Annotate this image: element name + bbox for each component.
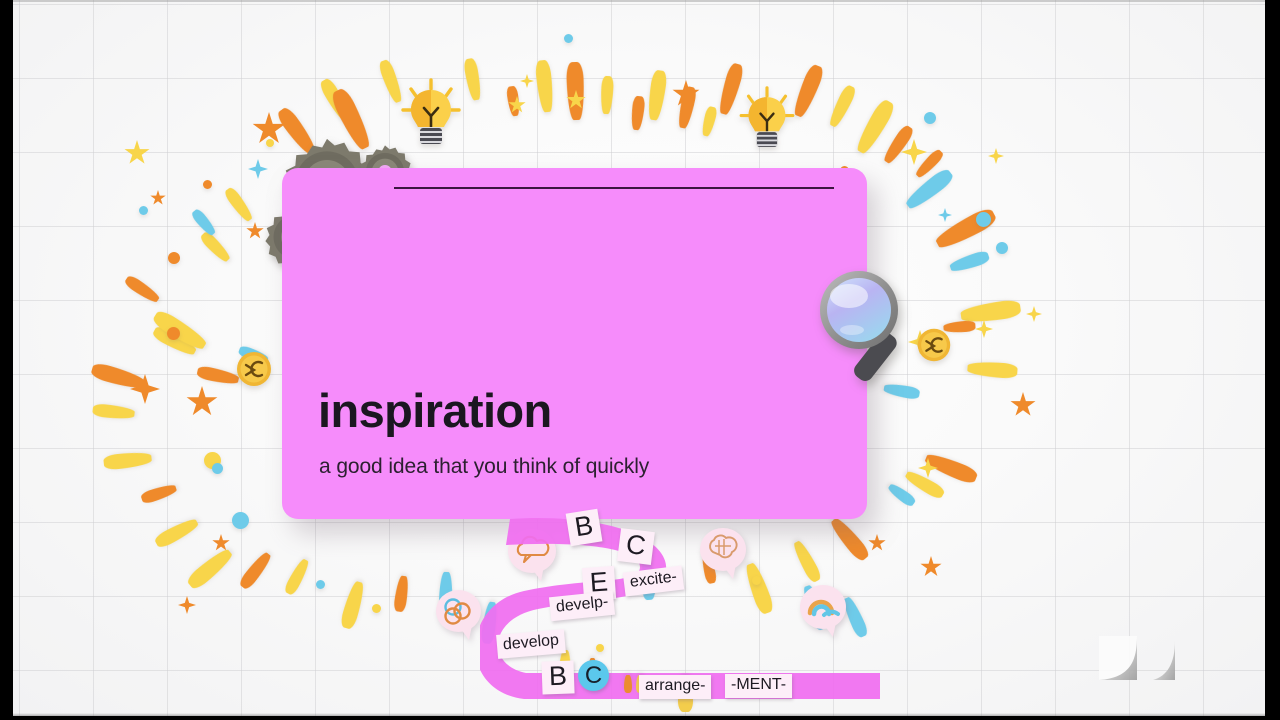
confetti-dot — [212, 463, 223, 474]
card-top-rule — [394, 187, 834, 189]
word-chain: B C E excite- develp- develop B C arrang… — [480, 505, 880, 720]
confetti-dot — [924, 112, 936, 124]
video-frame: inspiration a good idea that you think o… — [0, 0, 1280, 720]
confetti-dot — [168, 252, 180, 264]
lightbulb-mini-left-icon — [232, 347, 276, 391]
frame-top-edge — [13, 0, 1265, 2]
lightbulb-right-icon — [738, 86, 796, 158]
speech-bubble-links — [436, 590, 481, 632]
chain-tile-ment: -MENT- — [725, 674, 792, 698]
card-definition: a good idea that you think of quickly — [319, 456, 649, 477]
chain-drip-orange-2 — [624, 675, 632, 693]
confetti-dot — [266, 139, 274, 147]
confetti-dot — [232, 512, 249, 529]
chain-tile-letter-b-top: B — [566, 509, 603, 546]
confetti-dot — [564, 34, 573, 43]
confetti-dot — [167, 327, 180, 340]
confetti-dot — [203, 180, 212, 189]
confetti-dot — [139, 206, 148, 215]
confetti-dot — [976, 212, 991, 227]
lightbulb-left-icon — [400, 78, 462, 156]
links-icon — [436, 590, 481, 632]
letterbox-left — [0, 0, 13, 720]
letterbox-right — [1265, 0, 1280, 720]
chain-tile-letter-c-circle: C — [578, 660, 609, 691]
vocabulary-card[interactable]: inspiration a good idea that you think o… — [282, 168, 867, 519]
chain-tile-arrange: arrange- — [639, 675, 711, 699]
confetti-dot — [372, 604, 381, 613]
magnifying-glass-icon — [816, 268, 926, 388]
chain-tile-letter-b-bottom: B — [541, 660, 574, 694]
chain-tile-letter-c-top: C — [617, 528, 654, 564]
confetti-dot — [996, 242, 1008, 254]
page-title: inspiration — [318, 387, 552, 434]
confetti-dot — [316, 580, 325, 589]
channel-logo-watermark — [1095, 630, 1205, 688]
